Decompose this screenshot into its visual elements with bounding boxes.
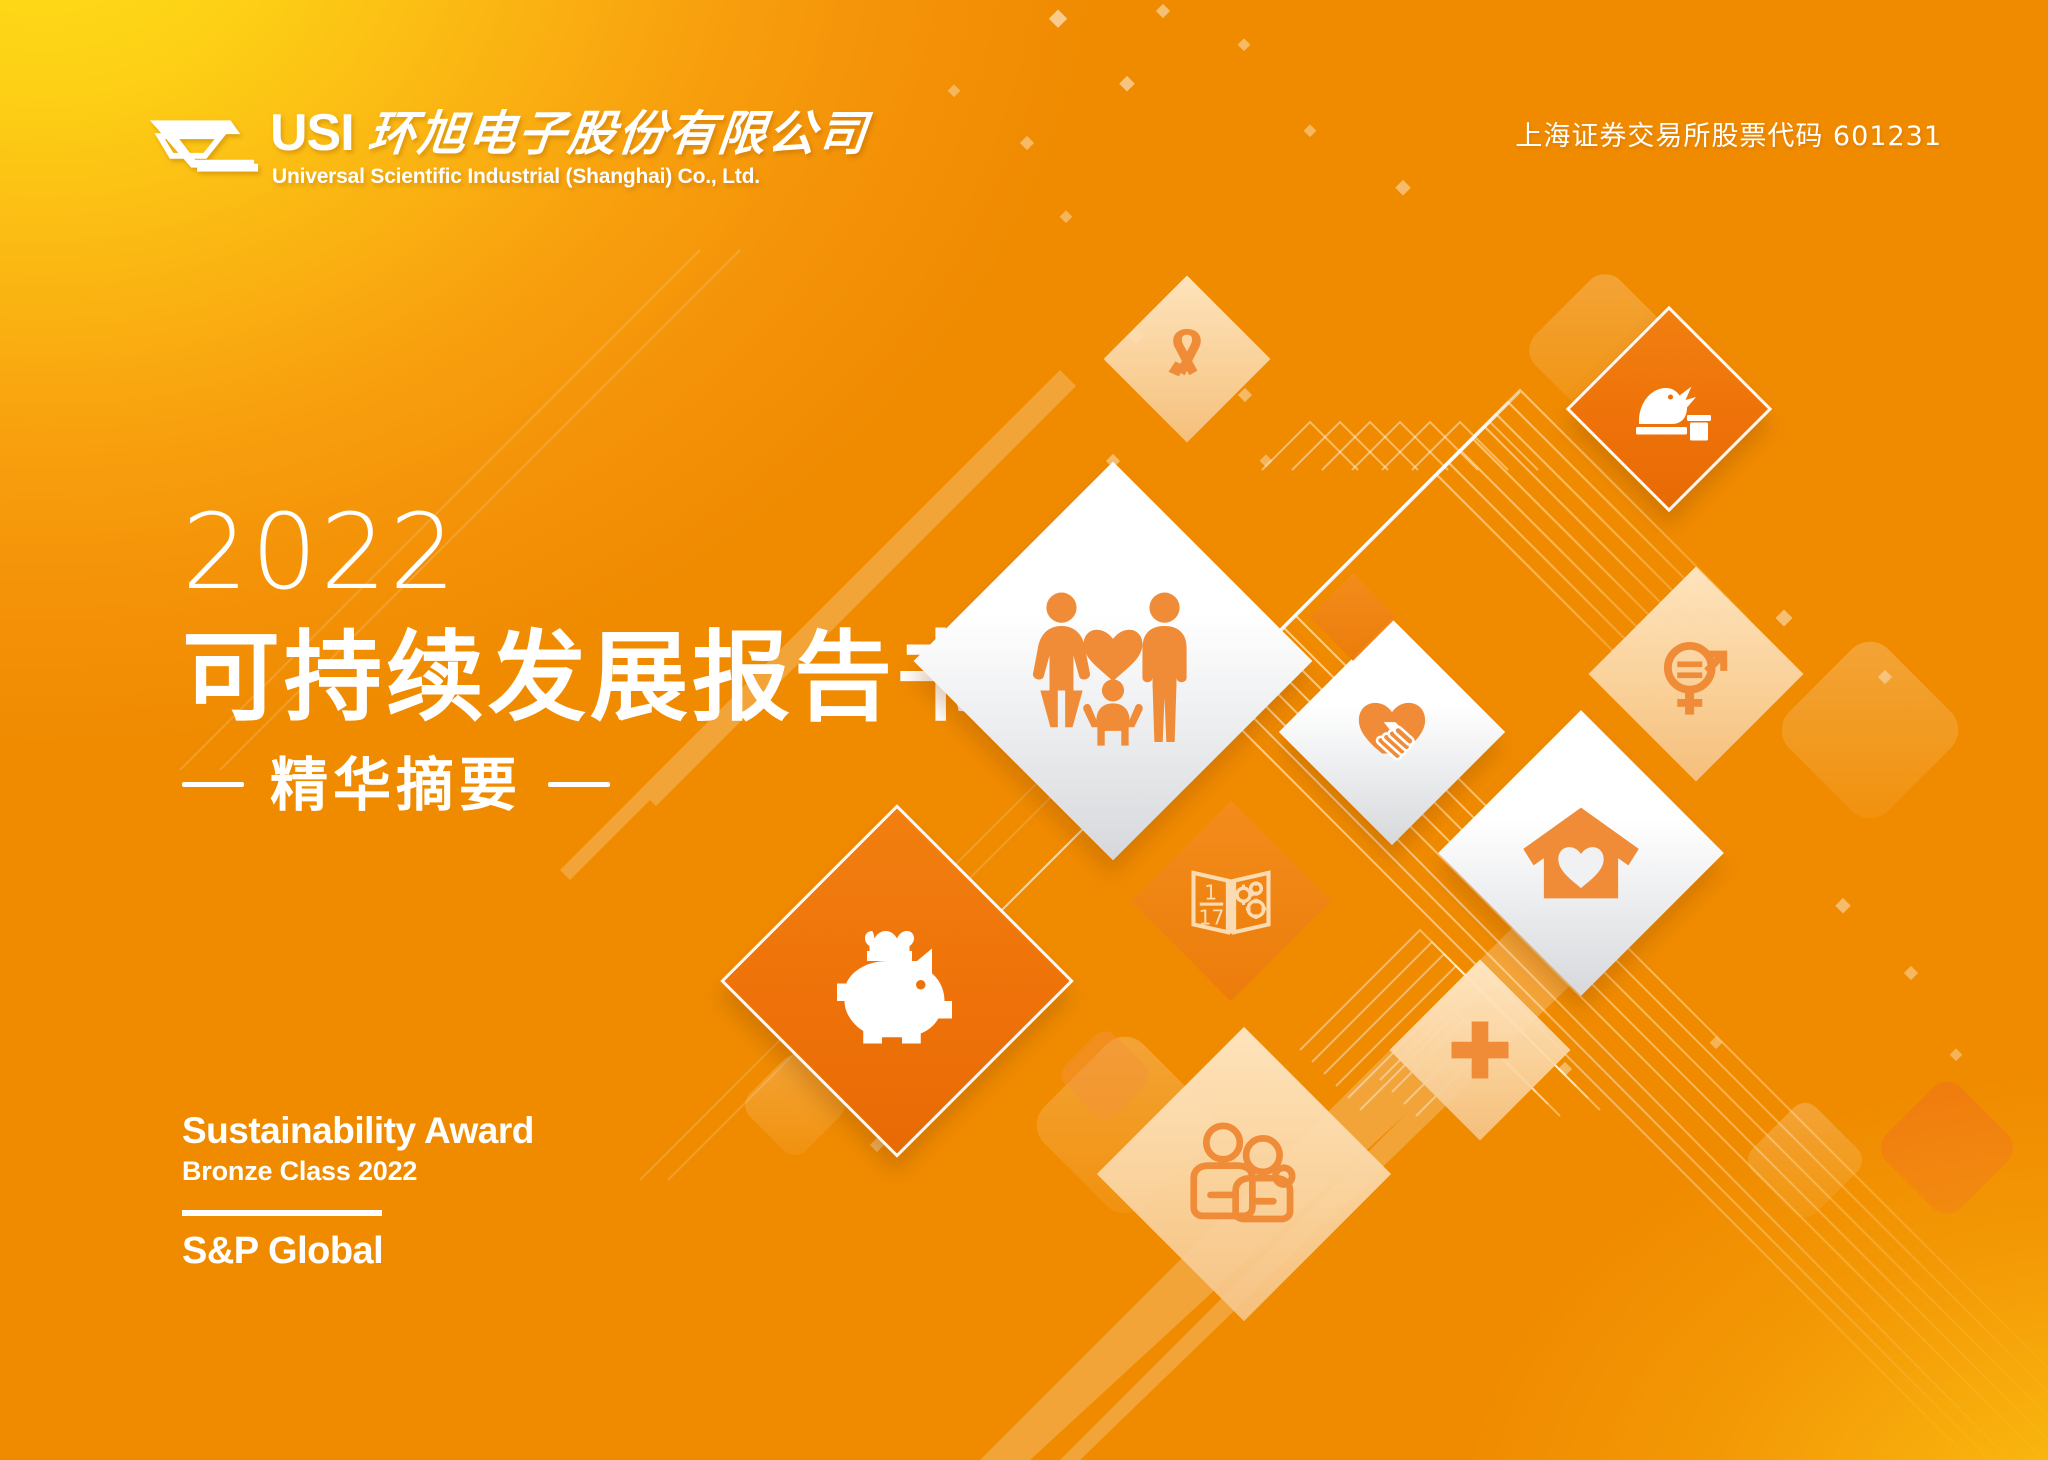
medical-cross-glyph xyxy=(1442,1012,1518,1088)
logo-company-en: Universal Scientific Industrial (Shangha… xyxy=(272,165,868,189)
stock-code-label: 上海证券交易所股票代码 601231 xyxy=(1515,114,1942,153)
book-badge-numerator: 1 xyxy=(1204,880,1217,904)
gender-equality-icon xyxy=(1620,598,1772,750)
logo-company-cn: 环旭电子股份有限公司 xyxy=(365,110,870,158)
home-heart-icon xyxy=(1480,752,1682,954)
logo-abbr: USI xyxy=(270,108,354,159)
family-glyph xyxy=(1021,569,1205,753)
gender-equality-glyph xyxy=(1646,624,1746,724)
awareness-ribbon-icon xyxy=(1128,300,1246,418)
decor-zigzag-a xyxy=(1262,422,1538,470)
subtitle-rule-left xyxy=(182,782,244,787)
company-logo: USI 环旭电子股份有限公司 Universal Scientific Indu… xyxy=(146,108,868,189)
award-issuer: S&P Global xyxy=(182,1230,582,1273)
book-badge-denominator: 17 xyxy=(1199,905,1225,929)
award-class: Bronze Class 2022 xyxy=(182,1155,582,1187)
ribbon-glyph xyxy=(1150,322,1224,396)
chip-tile-icon xyxy=(1322,586,1384,648)
book-gears-glyph: 1 17 xyxy=(1181,851,1281,951)
handshake-heart-icon xyxy=(1312,652,1472,812)
title-subtitle-row: 精华摘要 xyxy=(182,756,998,814)
community-people-icon xyxy=(1140,1070,1348,1278)
handshake-heart-glyph xyxy=(1339,679,1445,785)
title-subtitle: 精华摘要 xyxy=(270,756,522,814)
subtitle-rule-right xyxy=(548,782,610,787)
title-main: 可持续发展报告书 xyxy=(182,628,998,730)
dove-gavel-icon xyxy=(1596,336,1742,482)
cover-title-block: 2022 可持续发展报告书 精华摘要 xyxy=(182,500,998,814)
usi-logo-mark-icon xyxy=(146,114,264,176)
home-heart-glyph xyxy=(1515,787,1647,919)
report-cover: USI 环旭电子股份有限公司 Universal Scientific Indu… xyxy=(0,0,2048,1460)
title-year: 2022 xyxy=(182,500,998,604)
dove-gavel-glyph xyxy=(1621,361,1717,457)
piggy-bank-glyph xyxy=(817,901,977,1061)
award-divider xyxy=(182,1210,382,1216)
family-heart-icon xyxy=(972,520,1254,802)
award-title: Sustainability Award xyxy=(182,1110,582,1151)
medical-cross-icon xyxy=(1416,986,1544,1114)
book-gears-icon: 1 17 xyxy=(1160,830,1302,972)
piggy-bank-icon xyxy=(772,856,1022,1106)
community-people-glyph xyxy=(1177,1107,1311,1241)
sp-global-award-badge: Sustainability Award Bronze Class 2022 S… xyxy=(182,1110,582,1273)
